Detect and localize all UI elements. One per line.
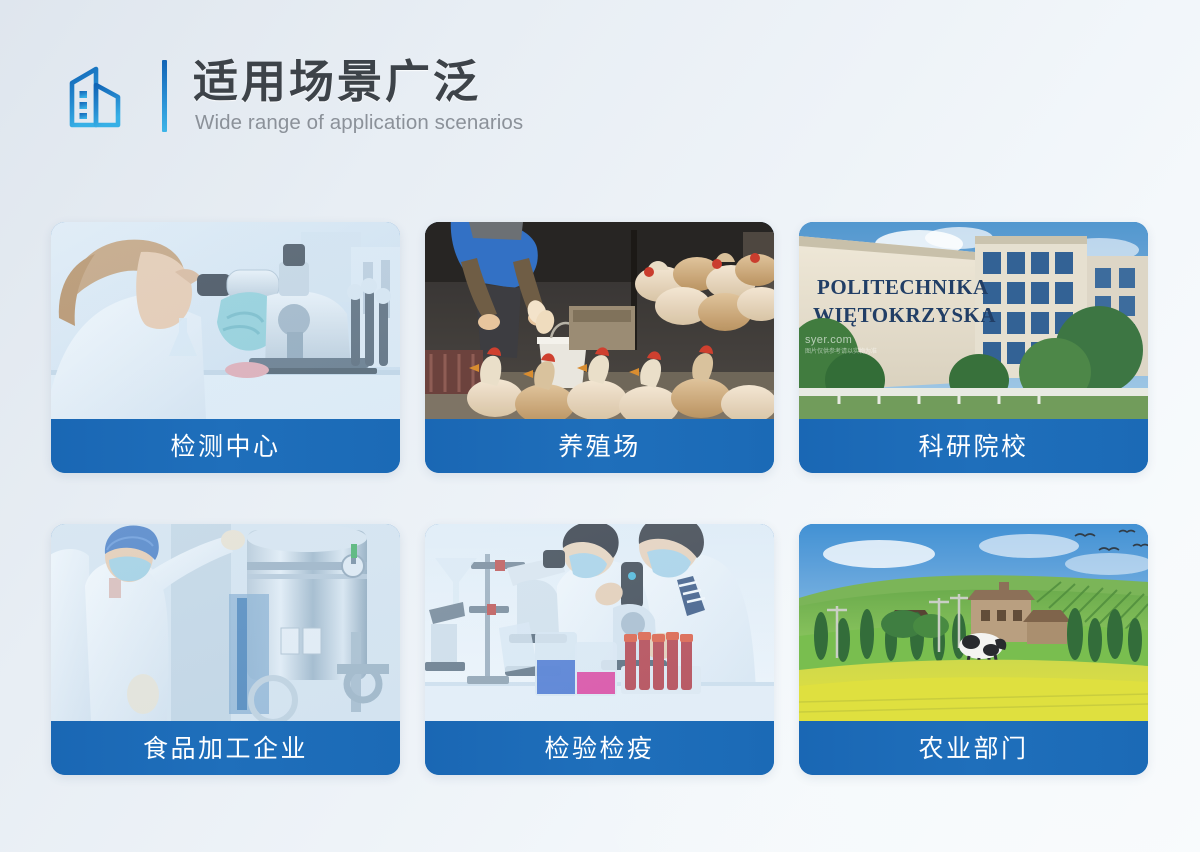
card-label-text: 科研院校 — [918, 434, 1028, 459]
scenario-card-research-institute[interactable]: POLITECHNIKA WIĘTOKRZYSKA syer.com — [799, 222, 1148, 473]
card-label-bar: 检验检疫 — [425, 721, 774, 775]
card-label-bar: 养殖场 — [425, 419, 774, 473]
page-title: 适用场景广泛 — [193, 56, 523, 108]
scenario-card-grid: 检测中心 — [51, 222, 1149, 775]
card-photo-food-plant — [51, 524, 400, 721]
card-label-text: 检测中心 — [170, 434, 280, 459]
card-label-text: 农业部门 — [918, 736, 1028, 761]
scenario-card-breeding-farm[interactable]: 养殖场 — [425, 222, 774, 473]
card-photo-university-building: POLITECHNIKA WIĘTOKRZYSKA syer.com — [799, 222, 1148, 419]
svg-text:POLITECHNIKA: POLITECHNIKA — [817, 275, 989, 299]
card-photo-poultry-farm — [425, 222, 774, 419]
card-label-text: 食品加工企业 — [143, 736, 308, 761]
building-icon — [66, 61, 132, 131]
card-label-text: 检验检疫 — [544, 736, 654, 761]
card-label-bar: 农业部门 — [799, 721, 1148, 775]
card-label-bar: 检测中心 — [51, 419, 400, 473]
header-text-block: 适用场景广泛 Wide range of application scenari… — [193, 56, 523, 135]
scenario-card-agriculture-department[interactable]: 农业部门 — [799, 524, 1148, 775]
card-label-bar: 食品加工企业 — [51, 721, 400, 775]
scenario-card-inspection-quarantine[interactable]: 检验检疫 — [425, 524, 774, 775]
card-photo-farmland — [799, 524, 1148, 721]
scenario-card-testing-center[interactable]: 检测中心 — [51, 222, 400, 473]
card-photo-scientist-microscope — [51, 222, 400, 419]
scenario-card-food-processing[interactable]: 食品加工企业 — [51, 524, 400, 775]
header-accent-divider — [162, 60, 167, 132]
card-label-text: 养殖场 — [558, 434, 641, 459]
page-subtitle: Wide range of application scenarios — [193, 111, 523, 136]
page-header: 适用场景广泛 Wide range of application scenari… — [66, 56, 523, 135]
image-watermark: syer.com 图片仅供参考请以实物为准 — [805, 334, 877, 355]
card-label-bar: 科研院校 — [799, 419, 1148, 473]
card-photo-lab-technicians — [425, 524, 774, 721]
